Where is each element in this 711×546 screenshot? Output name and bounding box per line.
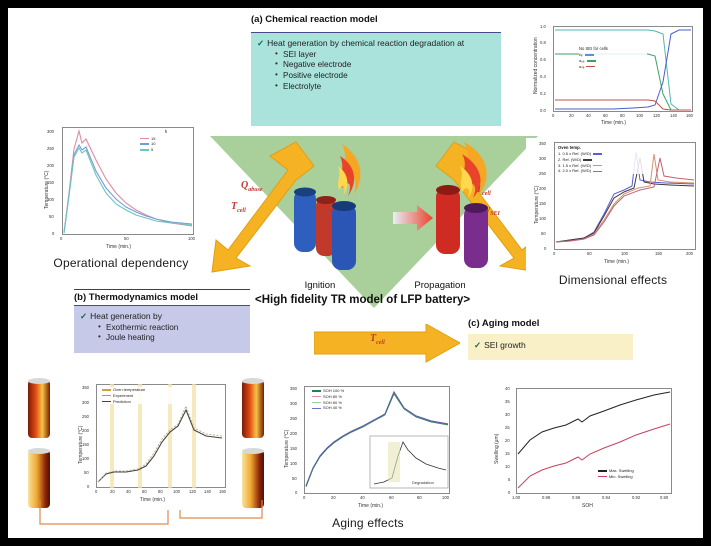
caption-dimensional-effects: Dimensional effects <box>518 273 703 287</box>
legend-item: 4. 2.0 x Ref. (W/D) <box>558 168 644 174</box>
xtick: 60 <box>142 489 147 494</box>
legend-item: SOH 40 % <box>312 405 370 411</box>
arrow-label-t-cell-bottom: Tcell <box>370 333 385 346</box>
chemical-model-check-text: Heat generation by chemical reaction deg… <box>267 38 464 48</box>
xtick: 0.96 <box>572 495 580 500</box>
cell-thermal-map-left <box>22 378 68 513</box>
stage-label-propagation: Propagation <box>390 280 490 291</box>
dimensional-legend: Oven temp. 1. 0.5 x Ref. (W/D) 2. Ref. (… <box>558 145 644 174</box>
thermo-model-box: ✓Heat generation by Exothermic reaction … <box>74 305 250 353</box>
concentration-ylabel: Normalized concentration <box>533 37 539 94</box>
ytick: 30 <box>505 412 510 417</box>
list-item: Exothermic reaction <box>98 323 244 334</box>
caption-operational-dependency: Operational dependency <box>26 256 216 270</box>
legend-item: 5 <box>140 147 192 153</box>
ytick: 0 <box>295 490 297 495</box>
aging-model-title: (c) Aging model <box>468 318 633 329</box>
aging-xlabel: Time (min.) <box>358 503 383 509</box>
chart-dimensional-effects: Oven temp. 1. 0.5 x Ref. (W/D) 2. Ref. (… <box>526 138 701 273</box>
chemical-model-title: (a) Chemical reaction model <box>251 14 501 25</box>
xtick: 100 <box>636 113 643 118</box>
ytick: 150 <box>82 442 89 447</box>
ytick: 350 <box>290 386 297 391</box>
sei-legend: Max. Swelling Min. Swelling <box>598 468 670 480</box>
legend-item: Min. Swelling <box>598 474 670 480</box>
check-icon: ✓ <box>80 311 87 321</box>
xtick: 0.90 <box>660 495 668 500</box>
ytick: 150 <box>47 180 54 185</box>
ignition-cells-illustration <box>280 136 400 276</box>
list-item: Joule heating <box>98 333 244 344</box>
ytick: 40 <box>505 386 510 391</box>
xtick: 80 <box>417 495 422 500</box>
concentration-legend: No SEI for cells cₑ αₚₑ αₙₑ <box>579 46 647 69</box>
sei-xlabel: SOH <box>582 503 593 509</box>
chemical-model-list: SEI layer Negative electrode Positive el… <box>275 50 495 93</box>
ytick: 150 <box>290 446 297 451</box>
chart-sei-growth: Max. Swelling Min. Swelling Swelling (μm… <box>486 380 682 518</box>
check-icon: ✓ <box>474 340 481 350</box>
xtick: 100 <box>173 489 180 494</box>
check-icon: ✓ <box>257 38 264 48</box>
figure-canvas: (a) Chemical reaction model ✓Heat genera… <box>8 8 703 538</box>
ytick: 250 <box>539 171 546 176</box>
arrow-label-t-cell-left: Tcell <box>231 201 246 214</box>
ytick: 50 <box>49 214 54 219</box>
xtick: 0 <box>303 495 305 500</box>
chart-aging-effects: SOH 100 % SOH 80 % SOH 60 % SOH 40 % Deg… <box>276 380 458 520</box>
operational-xlabel: Time (min.) <box>106 244 131 250</box>
concentration-xlabel: Time (min.) <box>601 120 626 126</box>
operational-legend: h 15 10 5 <box>140 129 192 153</box>
ytick: 10 <box>505 464 510 469</box>
ytick: 15 <box>505 451 510 456</box>
ytick: 350 <box>82 385 89 390</box>
xtick: 20 <box>110 489 115 494</box>
ytick: 35 <box>505 399 510 404</box>
xtick: 0 <box>95 489 97 494</box>
caption-aging-effects: Aging effects <box>278 516 458 530</box>
ytick: 250 <box>82 414 89 419</box>
ytick: 300 <box>539 156 546 161</box>
thermodynamics-xlabel: Time (min.) <box>140 497 165 503</box>
ytick: 0 <box>87 484 89 489</box>
xtick: 120 <box>189 489 196 494</box>
xtick: 100 <box>442 495 449 500</box>
list-item: Positive electrode <box>275 71 495 82</box>
ytick: 0.0 <box>540 108 546 113</box>
ytick: 200 <box>290 431 297 436</box>
ytick: 5 <box>508 477 510 482</box>
thermodynamics-legend: Oven temperature Experiment Prediction <box>102 387 174 404</box>
ytick: 0.8 <box>540 40 546 45</box>
xtick: 80 <box>158 489 163 494</box>
inset-label: Degradation <box>412 480 434 485</box>
ytick: 1.0 <box>540 24 546 29</box>
chart-normalized-concentration: No SEI for cells cₑ αₚₑ αₙₑ Normalized c… <box>523 20 701 132</box>
ytick: 300 <box>290 401 297 406</box>
stage-label-ignition: Ignition <box>280 280 360 291</box>
xtick: 40 <box>126 489 131 494</box>
ytick: 150 <box>539 201 546 206</box>
xtick: 140 <box>204 489 211 494</box>
aging-model-title-wrap: (c) Aging model <box>468 318 633 334</box>
xtick: 0.98 <box>542 495 550 500</box>
xtick: 40 <box>586 113 591 118</box>
chart-operational-dependency: h 15 10 5 Temperature (°C) Time (min.) 0… <box>36 123 201 258</box>
xtick: 40 <box>360 495 365 500</box>
xtick: 0 <box>60 236 62 241</box>
operational-ylabel: Temperature (°C) <box>44 171 50 209</box>
xtick: 80 <box>620 113 625 118</box>
ytick: 300 <box>82 400 89 405</box>
thermo-model-check-text: Heat generation by <box>90 311 162 321</box>
xtick: 0 <box>553 251 555 256</box>
xtick: 120 <box>653 113 660 118</box>
ytick: 20 <box>505 438 510 443</box>
xtick: 50 <box>587 251 592 256</box>
ytick: 200 <box>539 186 546 191</box>
ytick: 50 <box>84 470 89 475</box>
legend-item: Prediction <box>102 399 174 405</box>
ytick: 0.4 <box>540 74 546 79</box>
legend-item: αₙₑ <box>579 64 647 70</box>
ytick: 0.6 <box>540 57 546 62</box>
thermo-model-list: Exothermic reaction Joule heating <box>98 323 244 344</box>
ytick: 25 <box>505 425 510 430</box>
list-item: Electrolyte <box>275 82 495 93</box>
xtick: 60 <box>389 495 394 500</box>
xtick: 50 <box>124 236 129 241</box>
xtick: 1.00 <box>512 495 520 500</box>
arrow-bottom <box>314 324 460 364</box>
aging-model-box: ✓SEI growth <box>468 334 633 360</box>
xtick: 200 <box>686 251 693 256</box>
xtick: 160 <box>686 113 693 118</box>
ytick: 0 <box>508 490 510 495</box>
xtick: 140 <box>670 113 677 118</box>
ytick: 200 <box>82 428 89 433</box>
list-item: SEI layer <box>275 50 495 61</box>
xtick: 60 <box>603 113 608 118</box>
ytick: 50 <box>541 231 546 236</box>
ytick: 100 <box>539 216 546 221</box>
xtick: 0 <box>552 113 554 118</box>
chemical-model-title-wrap: (a) Chemical reaction model <box>251 14 501 32</box>
chart-thermodynamics: Oven temperature Experiment Prediction T… <box>70 380 232 510</box>
xtick: 160 <box>219 489 226 494</box>
xtick: 20 <box>569 113 574 118</box>
center-caption: <High fidelity TR model of LFP battery> <box>255 294 470 306</box>
arrow-label-q-abuse: Qabuse <box>241 180 263 193</box>
ytick: 0 <box>52 231 54 236</box>
aging-legend: SOH 100 % SOH 80 % SOH 60 % SOH 40 % <box>312 388 370 411</box>
xtick: 20 <box>331 495 336 500</box>
xtick: 0.94 <box>602 495 610 500</box>
list-item: Negative electrode <box>275 60 495 71</box>
ytick: 50 <box>292 476 297 481</box>
chemical-model-box: ✓Heat generation by chemical reaction de… <box>251 32 501 126</box>
ytick: 100 <box>47 197 54 202</box>
thermo-model-check-row: ✓Heat generation by <box>80 311 244 322</box>
ytick: 100 <box>290 461 297 466</box>
xtick: 100 <box>188 236 195 241</box>
ytick: 100 <box>82 456 89 461</box>
ytick: 350 <box>539 141 546 146</box>
xtick: 150 <box>655 251 662 256</box>
sei-ylabel: Swelling (μm) <box>494 434 500 464</box>
ytick: 0.2 <box>540 91 546 96</box>
ytick: 250 <box>290 416 297 421</box>
aging-model-check-text: SEI growth <box>484 340 526 350</box>
ytick: 200 <box>47 163 54 168</box>
xtick: 0.92 <box>632 495 640 500</box>
chemical-model-check-row: ✓Heat generation by chemical reaction de… <box>257 38 495 49</box>
ytick: 0 <box>544 246 546 251</box>
ytick: 250 <box>47 146 54 151</box>
dimensional-xlabel: Time (min.) <box>604 259 629 265</box>
aging-model-check-row: ✓SEI growth <box>474 340 627 351</box>
ytick: 300 <box>47 129 54 134</box>
propagation-cells-illustration <box>416 136 536 276</box>
xtick: 100 <box>621 251 628 256</box>
